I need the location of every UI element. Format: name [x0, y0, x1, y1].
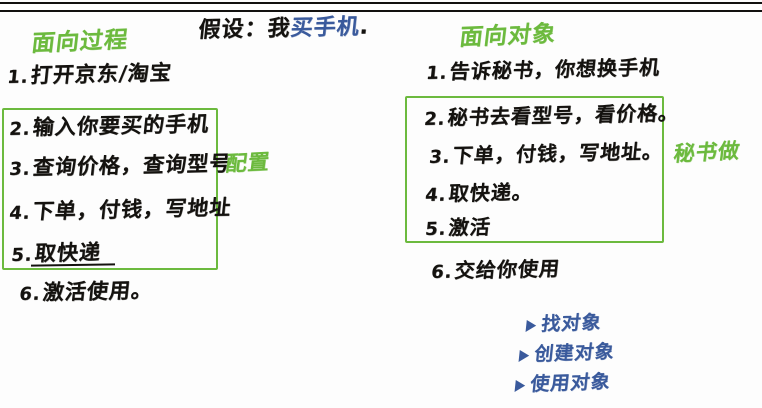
- bullet-item-create-object-label: 创建对象: [533, 341, 616, 366]
- left-item-2: 2.输入你要买的手机: [8, 108, 211, 142]
- right-item-3-number: 3.: [428, 147, 454, 168]
- triangle-right-icon: [526, 319, 537, 331]
- left-item-6-text: 激活使用。: [42, 278, 155, 304]
- right-item-4: 4.取快递。: [424, 176, 535, 207]
- right-item-5: 5.激活: [424, 211, 492, 241]
- right-item-1-text: 告诉秘书，你想换手机: [449, 55, 662, 83]
- right-item-4-text: 取快递。: [448, 180, 535, 206]
- left-item-6-number: 6.: [18, 284, 44, 305]
- board-title-emphasis: 买手机: [289, 15, 361, 41]
- triangle-right-icon: [515, 379, 526, 391]
- bullet-item-create-object: 创建对象: [518, 337, 616, 367]
- right-item-5-number: 5.: [424, 219, 450, 240]
- bullet-item-find-object-label: 找对象: [540, 311, 603, 335]
- bullet-item-use-object: 使用对象: [514, 367, 612, 397]
- right-item-3-text: 下单，付钱，写地址。: [452, 139, 665, 167]
- right-item-3: 3.下单，付钱，写地址。: [428, 135, 665, 169]
- left-column-heading: 面向过程: [30, 20, 131, 58]
- left-item-4: 4.下单，付钱，写地址: [8, 191, 233, 226]
- right-column-heading: 面向对象: [458, 14, 559, 52]
- left-item-5-text: 取快递: [34, 240, 103, 265]
- bullet-item-find-object: 找对象: [525, 307, 603, 337]
- board-title-prefix: 假设：我: [197, 16, 292, 43]
- right-item-4-number: 4.: [424, 185, 450, 206]
- left-item-1-number: 1.: [6, 67, 32, 88]
- whiteboard-canvas: 假设：我买手机. 面向过程 1.打开京东/淘宝 2.输入你要买的手机 3.查询价…: [0, 0, 762, 408]
- right-item-6: 6.交给你使用: [430, 252, 562, 284]
- left-item-5-number: 5.: [10, 245, 36, 266]
- left-column-annotation: 配置: [224, 146, 272, 178]
- left-item-3-number: 3.: [8, 159, 34, 180]
- triangle-right-icon: [519, 349, 530, 361]
- board-title: 假设：我买手机.: [197, 8, 371, 44]
- left-item-3: 3.查询价格，查询型号: [8, 147, 233, 182]
- left-item-6: 6.激活使用。: [18, 274, 155, 307]
- right-column-annotation: 秘书做: [672, 135, 742, 168]
- left-item-2-text: 输入你要买的手机: [32, 112, 211, 140]
- right-item-6-number: 6.: [430, 262, 456, 283]
- left-item-3-text: 查询价格，查询型号: [32, 151, 233, 179]
- left-item-2-number: 2.: [8, 119, 34, 140]
- left-item-4-number: 4.: [8, 203, 34, 224]
- bullet-item-use-object-label: 使用对象: [529, 371, 612, 396]
- left-item-1: 1.打开京东/淘宝: [6, 57, 173, 90]
- left-item-1-text: 打开京东/淘宝: [30, 61, 173, 88]
- right-item-2-text: 秘书去看型号，看价格。: [447, 101, 681, 130]
- right-item-1-number: 1.: [425, 63, 451, 84]
- right-item-2: 2.秘书去看型号，看价格。: [423, 97, 681, 131]
- top-divider-rule: [0, 2, 762, 12]
- right-item-5-text: 激活: [448, 215, 493, 240]
- right-item-6-text: 交给你使用: [454, 256, 562, 282]
- left-item-4-text: 下单，付钱，写地址: [32, 195, 233, 223]
- board-title-period: .: [359, 14, 371, 39]
- right-item-2-number: 2.: [423, 109, 449, 130]
- right-item-1: 1.告诉秘书，你想换手机: [425, 51, 662, 85]
